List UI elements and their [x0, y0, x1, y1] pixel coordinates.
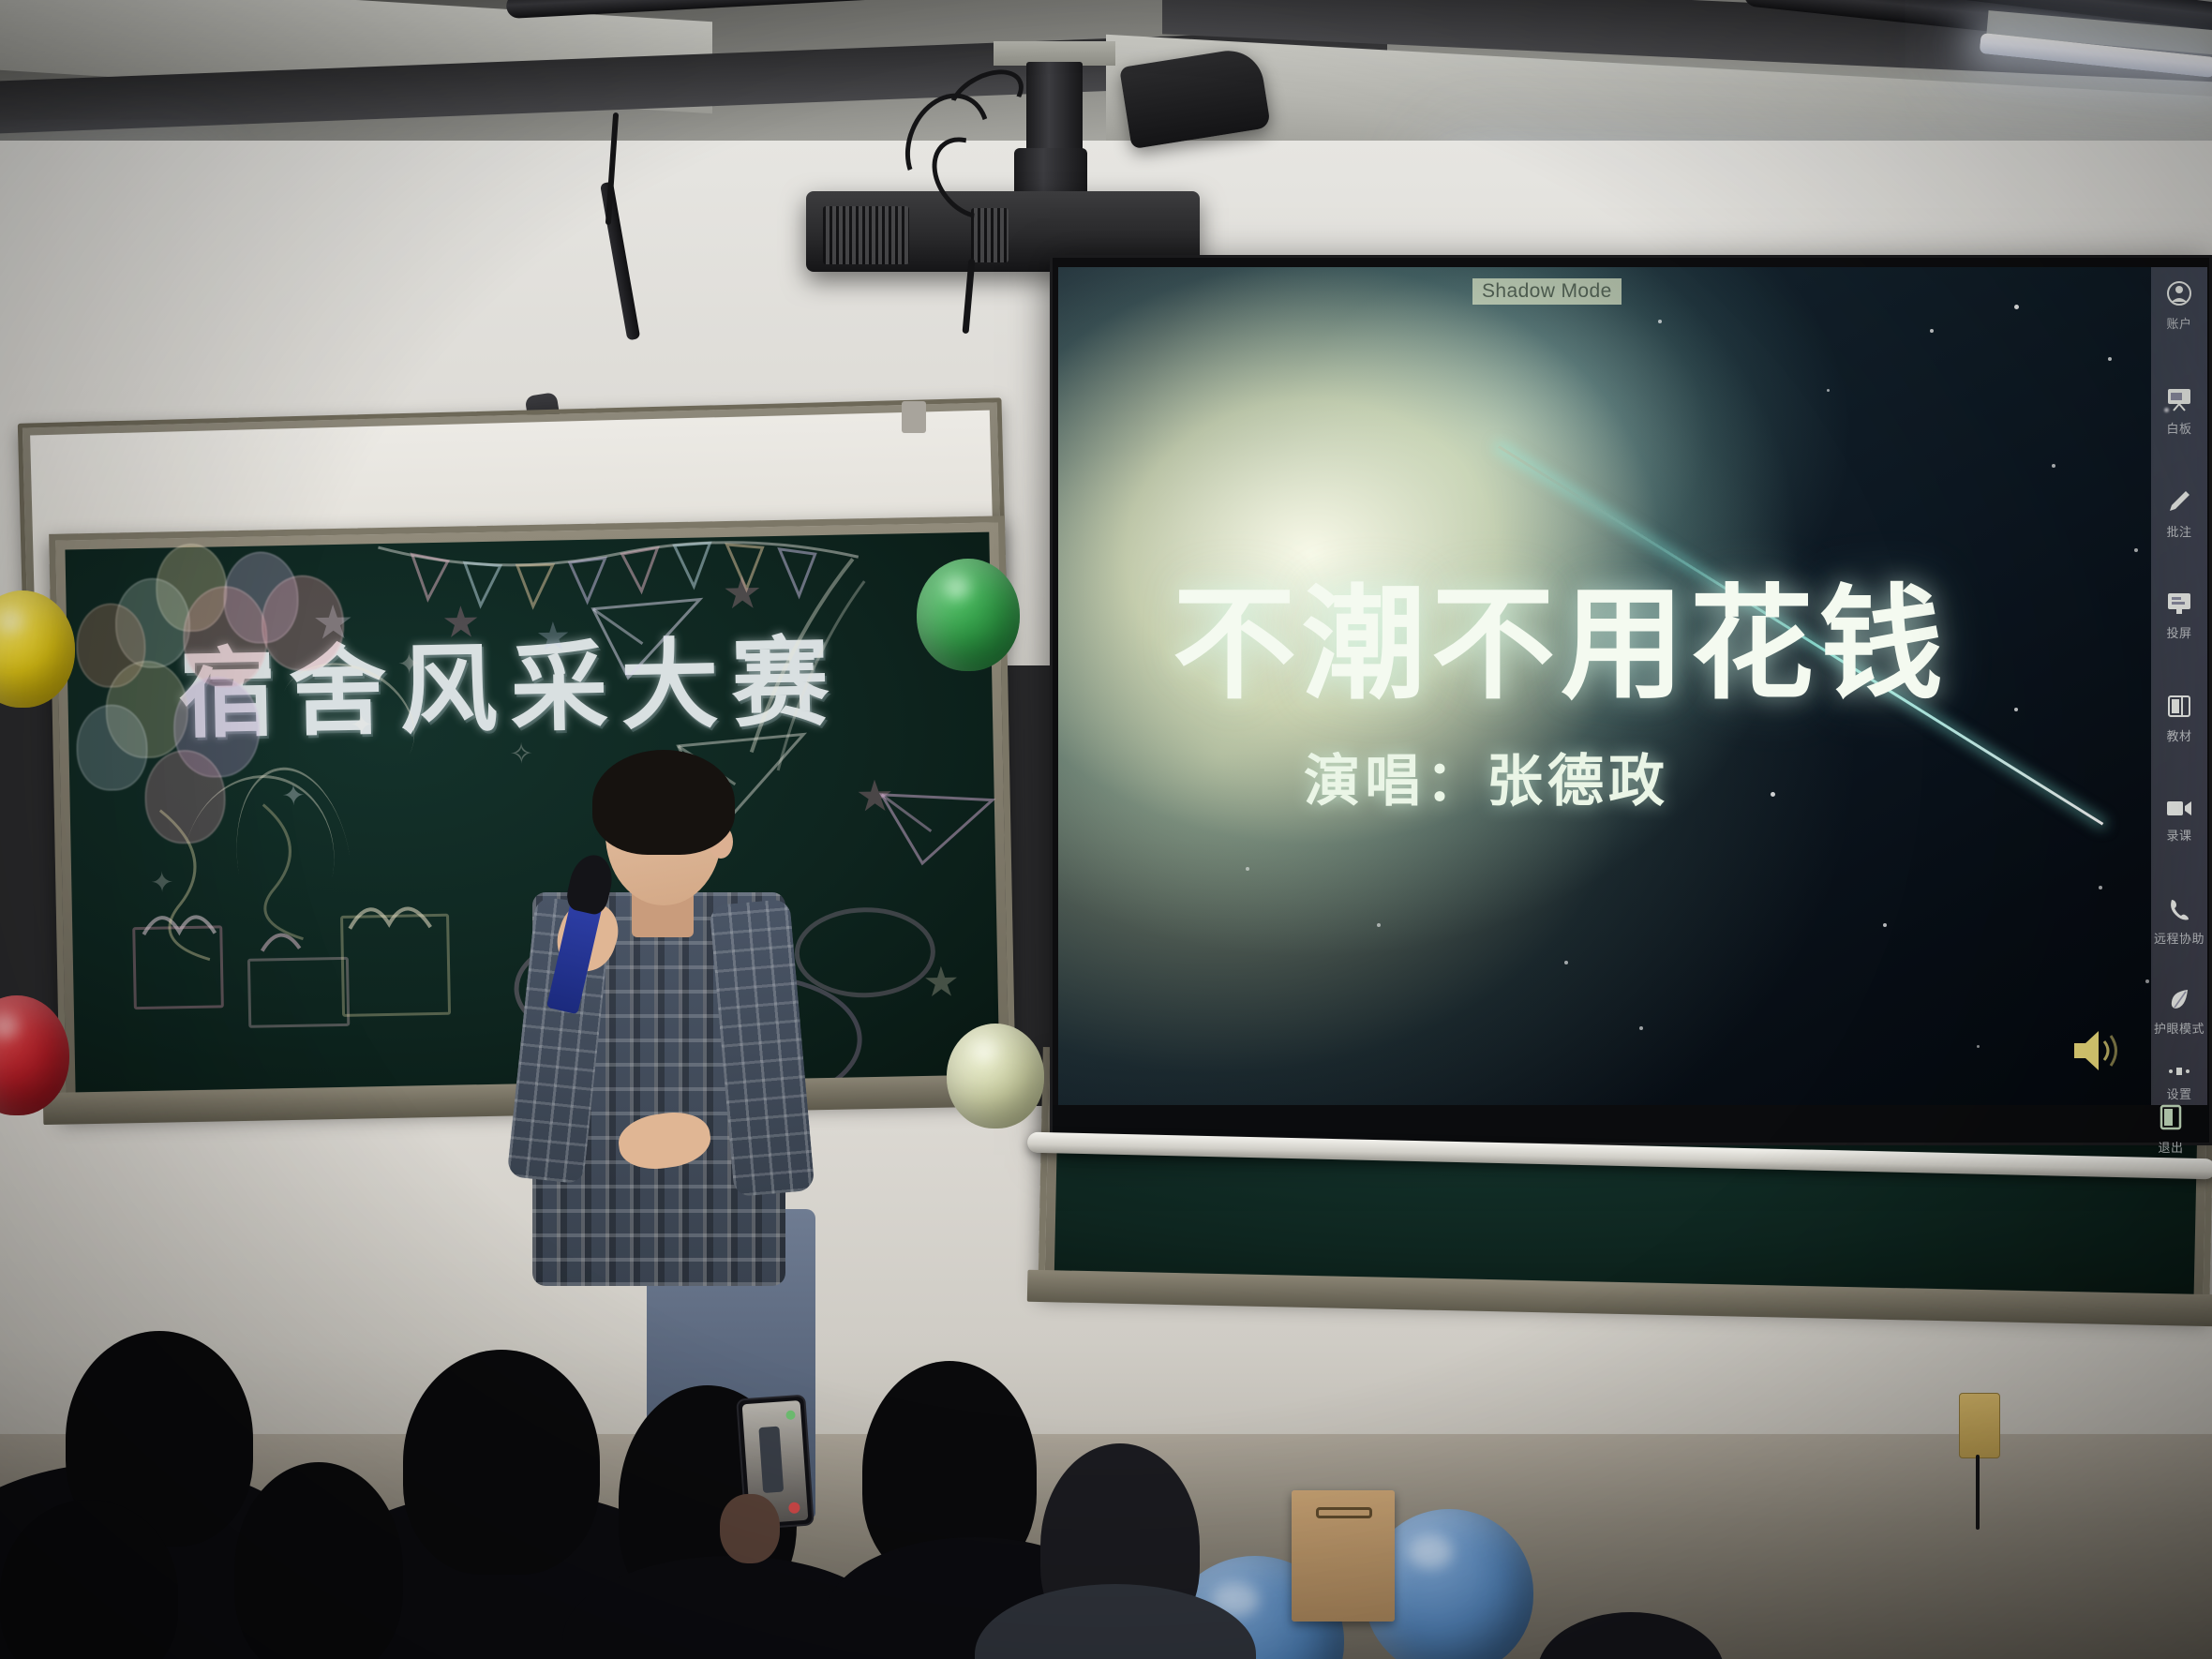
whiteboard-icon	[2151, 387, 2207, 415]
slide-star	[1564, 961, 1568, 964]
slide-star	[1377, 923, 1381, 927]
slide-star	[2108, 357, 2112, 361]
sidebar-label-remote-help: 远程协助	[2151, 929, 2207, 947]
slide-subtitle: 演唱：张德政	[1304, 736, 1669, 817]
sidebar-label-textbook: 教材	[2151, 726, 2207, 744]
sidebar-label-account: 账户	[2151, 314, 2207, 332]
sidebar-label-exit: 退出	[2143, 1138, 2199, 1156]
slide-star	[2052, 464, 2055, 468]
projector-sidebar[interactable]: 账户 白板 批注	[2151, 267, 2207, 1111]
sidebar-item-whiteboard[interactable]: 白板	[2151, 387, 2207, 437]
pencil-icon	[2151, 488, 2207, 518]
book-icon	[2151, 695, 2207, 723]
monitor-share-icon	[2151, 591, 2207, 620]
sidebar-label-eye-protect: 护眼模式	[2151, 1019, 2207, 1037]
projector-mount-knuckle	[1014, 148, 1087, 197]
projector-mount-pole	[1026, 62, 1083, 154]
sidebar-item-screencast[interactable]: 投屏	[2151, 591, 2207, 641]
chalk-star-7: ★	[441, 596, 481, 648]
chalk-star-3: ✦	[397, 648, 422, 680]
slide-star	[1658, 320, 1662, 323]
chalk-star-1: ✦	[350, 709, 374, 741]
phone-shutter-indicator	[785, 1410, 796, 1420]
slide-star	[1883, 923, 1887, 927]
performer-hair	[592, 750, 735, 855]
audience-head-2	[403, 1350, 600, 1575]
slide-star	[2014, 305, 2019, 309]
wall-outlet[interactable]	[1959, 1393, 2000, 1458]
leaf-icon	[2151, 987, 2207, 1015]
chalk-balloon-4	[182, 585, 268, 688]
chalk-paper-airplane-3	[877, 781, 1001, 881]
chalk-star-9: ★	[855, 770, 894, 822]
sidebar-label-settings: 设置	[2151, 1084, 2207, 1102]
video-camera-icon	[2151, 798, 2207, 822]
chalk-balloon-9	[76, 704, 149, 791]
slide-star	[2134, 548, 2138, 552]
projector-vent-left	[823, 206, 909, 264]
slide-star	[1639, 1026, 1643, 1030]
chalk-gift-box-1	[132, 925, 224, 1009]
speaker-icon[interactable]	[2070, 1026, 2121, 1080]
chalk-star-8: ★	[722, 566, 763, 620]
slide-star	[2145, 979, 2149, 983]
shadow-mode-badge: Shadow Mode	[1472, 278, 1622, 305]
whiteboard-wall-screw	[902, 401, 926, 433]
sidebar-item-eye-protect[interactable]: 护眼模式	[2151, 987, 2207, 1037]
gift-bag-handle	[1316, 1507, 1372, 1518]
phone-record-button[interactable]	[788, 1502, 800, 1514]
classroom-scene: 宿舍风采大赛	[0, 0, 2212, 1659]
chalk-cloud-3	[794, 906, 936, 999]
audience-hand-holding-phone	[720, 1494, 780, 1563]
chalk-star-12: ★	[535, 613, 572, 660]
sidebar-item-remote-help[interactable]: 远程协助	[2151, 897, 2207, 947]
exit-door-icon	[2143, 1104, 2199, 1134]
slide-star	[1246, 867, 1249, 871]
slide-star	[1930, 329, 1934, 333]
phone-recorded-figure	[758, 1427, 784, 1493]
chalk-gift-box-2	[247, 957, 350, 1028]
sidebar-item-annotate[interactable]: 批注	[2151, 488, 2207, 540]
balloon-cream	[947, 1024, 1044, 1128]
sidebar-label-record: 录课	[2151, 826, 2207, 844]
sidebar-label-annotate: 批注	[2151, 522, 2207, 540]
chalk-gift-box-3	[340, 914, 451, 1017]
slide-title: 不潮不用花钱	[1173, 545, 1949, 724]
projected-slide: Shadow Mode 不潮不用花钱 演唱：张德政 账户	[1058, 267, 2207, 1111]
gift-bag	[1292, 1490, 1395, 1622]
balloon-green	[917, 559, 1020, 671]
slide-star	[1827, 389, 1830, 392]
slide-star	[2014, 708, 2018, 711]
projection-screen: Shadow Mode 不潮不用花钱 演唱：张德政 账户	[1050, 255, 2212, 1145]
sidebar-label-screencast: 投屏	[2151, 623, 2207, 641]
slide-star	[1977, 1045, 1980, 1048]
slide-star	[1771, 792, 1775, 797]
chalk-star-2: ✦	[281, 780, 306, 813]
sidebar-label-whiteboard: 白板	[2151, 419, 2207, 437]
user-account-icon	[2151, 280, 2207, 310]
sidebar-item-record[interactable]: 录课	[2151, 798, 2207, 844]
phone-icon	[2151, 897, 2207, 925]
slide-star	[2099, 886, 2102, 889]
settings-icon	[2151, 1066, 2207, 1081]
sidebar-item-account[interactable]: 账户	[2151, 280, 2207, 332]
chalk-star-5: ✦	[150, 866, 174, 899]
sidebar-item-settings[interactable]: 设置	[2151, 1066, 2207, 1102]
chalk-star-4: ✧	[509, 738, 533, 770]
outlet-cable	[1976, 1455, 1980, 1530]
sidebar-item-textbook[interactable]: 教材	[2151, 695, 2207, 744]
sidebar-item-exit[interactable]: 退出	[2143, 1104, 2199, 1156]
chalk-star-11: ★	[311, 595, 354, 650]
